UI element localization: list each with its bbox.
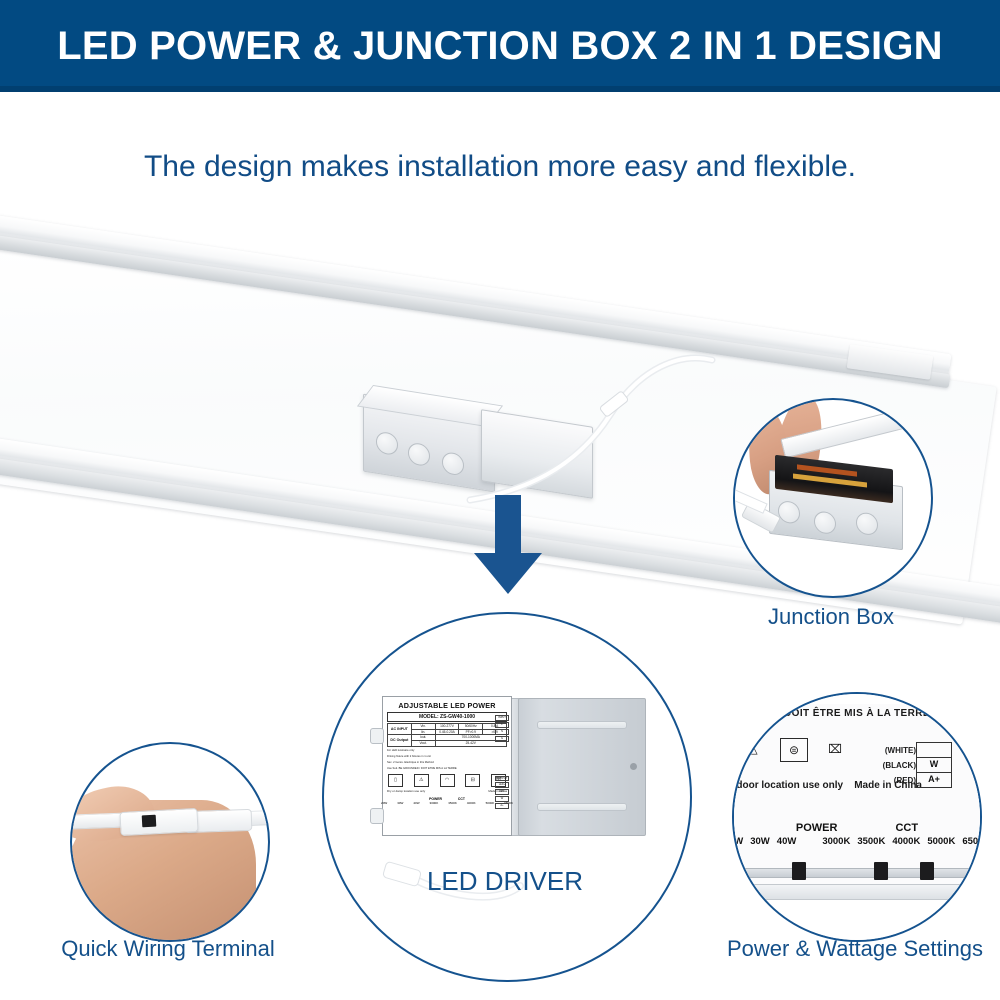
class-2-icon: △ [740, 738, 766, 760]
knockout-icon [778, 500, 800, 525]
callout-label-junction-box: Junction Box [733, 604, 929, 630]
wire-color-black: (BLACK) [850, 759, 916, 774]
settings-values: 20W 30W 40W 3000K 3500K 4000K 5000K 6500… [734, 836, 980, 847]
cct-value: 3000K [822, 836, 850, 847]
wire-color-white: (WHITE) [850, 744, 916, 759]
indoor-use-note: Indoor location use only [732, 780, 843, 791]
quick-wiring-connector [119, 808, 198, 836]
callout-label-led-driver: LED DRIVER [322, 866, 688, 897]
page-title: LED POWER & JUNCTION BOX 2 IN 1 DESIGN [57, 24, 943, 69]
callout-label-power-wattage-settings: Power & Wattage Settings [702, 936, 1000, 962]
dip-switch-power[interactable] [792, 862, 806, 880]
power-value: 20W [732, 836, 743, 847]
knockout-icon [814, 510, 836, 535]
cct-value: 5000K [927, 836, 955, 847]
settings-headings: POWER CCT [734, 822, 980, 834]
dip-switch-cct[interactable] [920, 862, 934, 880]
power-settings-label-panel: DOIT ÊTRE MIS À LA TERRE △ ⊜ ⌧ Indoor lo… [734, 694, 980, 940]
housing-rail [736, 884, 980, 900]
callout-power-wattage-settings[interactable]: DOIT ÊTRE MIS À LA TERRE △ ⊜ ⌧ Indoor lo… [732, 692, 982, 942]
weee-bin-icon: ⌧ [822, 738, 848, 760]
driver-output-cable [324, 614, 690, 980]
wire-color-legend: (WHITE) (BLACK) (RED) [850, 744, 916, 788]
power-heading: POWER [796, 822, 838, 834]
callout-label-quick-wiring-terminal: Quick Wiring Terminal [40, 936, 296, 962]
terminal-blank [916, 742, 952, 757]
down-arrow-icon [468, 495, 548, 595]
wire-color-red: (RED) [850, 774, 916, 789]
cct-value: 6500K [962, 836, 982, 847]
terminal-w: W [916, 757, 952, 772]
cct-heading: CCT [895, 822, 918, 834]
french-grounding-note: DOIT ÊTRE MIS À LA TERRE [734, 708, 980, 719]
terminal-legend: W A+ [916, 742, 952, 788]
terminal-a-plus: A+ [916, 772, 952, 788]
knockout-icon [856, 511, 878, 536]
dip-switch-cct[interactable] [874, 862, 888, 880]
power-cct-settings: POWER CCT 20W 30W 40W 3000K 3500K 4000K … [734, 822, 980, 847]
cct-value: 4000K [892, 836, 920, 847]
power-value: 30W [750, 836, 770, 847]
connector-window-icon [142, 815, 157, 828]
cct-values-group: 3000K 3500K 4000K 5000K 6500K [822, 836, 982, 847]
callout-led-driver[interactable]: ADJUSTABLE LED POWER MODEL: ZS-GW40-1000… [322, 612, 692, 982]
dip-switch-bar[interactable] [740, 868, 976, 878]
callout-quick-wiring-terminal[interactable] [70, 742, 270, 942]
power-value: 40W [777, 836, 797, 847]
label-background [732, 704, 982, 894]
callout-junction-box[interactable] [733, 398, 933, 598]
cct-value: 3500K [857, 836, 885, 847]
enclosed-fixture-icon: ⊜ [780, 738, 808, 762]
subtitle-text: The design makes installation more easy … [0, 150, 1000, 184]
power-values-group: 20W 30W 40W [732, 836, 796, 847]
header-banner: LED POWER & JUNCTION BOX 2 IN 1 DESIGN [0, 0, 1000, 92]
